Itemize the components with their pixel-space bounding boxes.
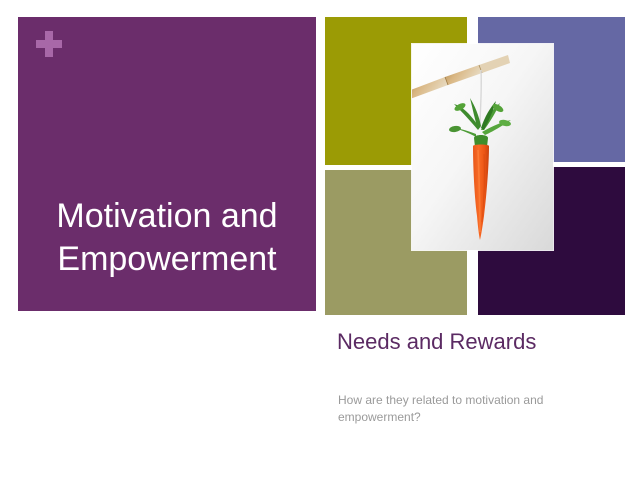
carrot-illustration xyxy=(412,44,553,250)
slide-canvas: Motivation and Empowerment Needs and Rew… xyxy=(0,0,640,480)
section-heading: Needs and Rewards xyxy=(337,329,536,355)
plus-icon xyxy=(36,31,62,57)
title-panel: Motivation and Empowerment xyxy=(18,17,316,311)
section-subtext: How are they related to motivation and e… xyxy=(338,392,588,426)
carrot-on-a-stick-image xyxy=(412,44,553,250)
slide-title: Motivation and Empowerment xyxy=(28,195,306,281)
